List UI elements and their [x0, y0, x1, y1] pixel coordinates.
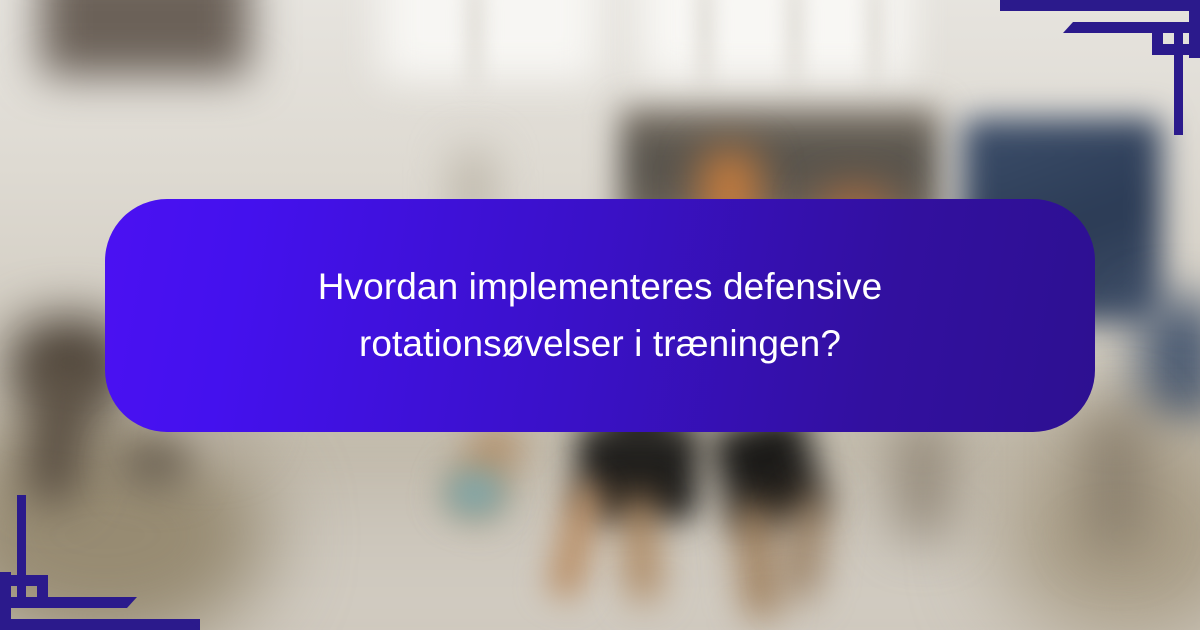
slide-canvas: Hvordan implementeres defensive rotation…: [0, 0, 1200, 630]
headline-card: Hvordan implementeres defensive rotation…: [105, 199, 1095, 432]
page-title: Hvordan implementeres defensive rotation…: [270, 259, 930, 371]
bg-athlete-center-shoe: [446, 470, 504, 516]
bg-navy-accent: [1140, 300, 1200, 440]
bg-figure-far-right: [900, 418, 946, 538]
bg-window-left: [380, 0, 600, 80]
bg-wall-fixture: [40, 0, 250, 76]
bg-athlete-left-shoe: [120, 440, 190, 486]
bg-figure-edge-right: [1090, 408, 1142, 548]
